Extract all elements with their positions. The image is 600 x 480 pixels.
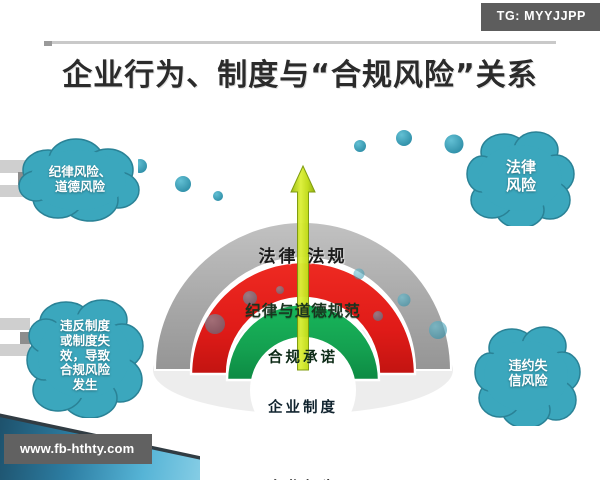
concentric-ring-diagram: 法律 法规 纪律与道德规范 合规承诺 企业制度 企业行为 — [138, 108, 468, 426]
slide-canvas: TG: MYYJJPP 企业行为、制度与“合规风险”关系 — [0, 0, 600, 480]
watermark: www.fb-hthty.com — [4, 434, 152, 464]
bubble-dot — [243, 291, 257, 305]
cloud-discipline-ethics-risk: 纪律风险、道德风险 — [18, 134, 142, 226]
header-divider — [44, 41, 556, 44]
header-divider-cap — [44, 41, 52, 46]
bubble-dot — [398, 294, 411, 307]
bubble-dot — [373, 311, 383, 321]
cloud-legal-risk: 法律风险 — [466, 128, 576, 226]
bubble-dot — [396, 130, 412, 146]
bubble-dot — [354, 140, 366, 152]
cloud-default-credit-risk: 违约失信风险 — [474, 322, 582, 426]
cloud-label: 违约失信风险 — [502, 359, 553, 390]
bubble-dot — [276, 286, 284, 294]
cloud-label: 纪律风险、道德风险 — [43, 165, 118, 195]
telegram-badge: TG: MYYJJPP — [481, 3, 600, 31]
bubble-dot — [175, 176, 191, 192]
page-title: 企业行为、制度与“合规风险”关系 — [0, 50, 600, 94]
bubble-dot — [205, 314, 225, 334]
cloud-label: 法律风险 — [500, 159, 542, 194]
cloud-label: 违反制度或制度失效，导致合规风险发生 — [54, 319, 116, 393]
bubble-dot — [445, 135, 464, 154]
bubble-dot — [429, 321, 447, 339]
bubble-dot — [213, 191, 223, 201]
bubble-dot — [354, 269, 365, 280]
